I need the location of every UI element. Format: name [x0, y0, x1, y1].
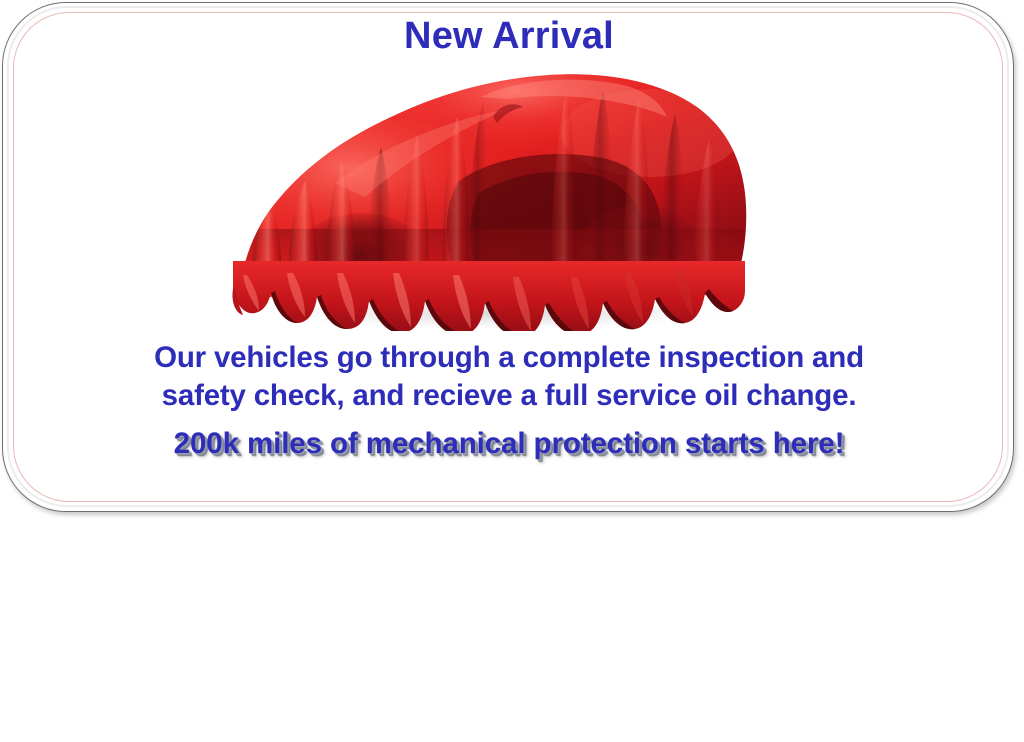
advertisement-banner: New Arrival — [0, 0, 1024, 742]
body-copy-line-2: safety check, and recieve a full service… — [25, 377, 993, 415]
body-copy: Our vehicles go through a complete inspe… — [3, 339, 1014, 415]
promo-card: New Arrival — [2, 2, 1014, 512]
tagline: 200k miles of mechanical protection star… — [3, 427, 1014, 461]
page-title: New Arrival — [3, 17, 1014, 55]
covered-car-illustration — [231, 61, 771, 331]
body-copy-line-1: Our vehicles go through a complete inspe… — [25, 339, 993, 377]
